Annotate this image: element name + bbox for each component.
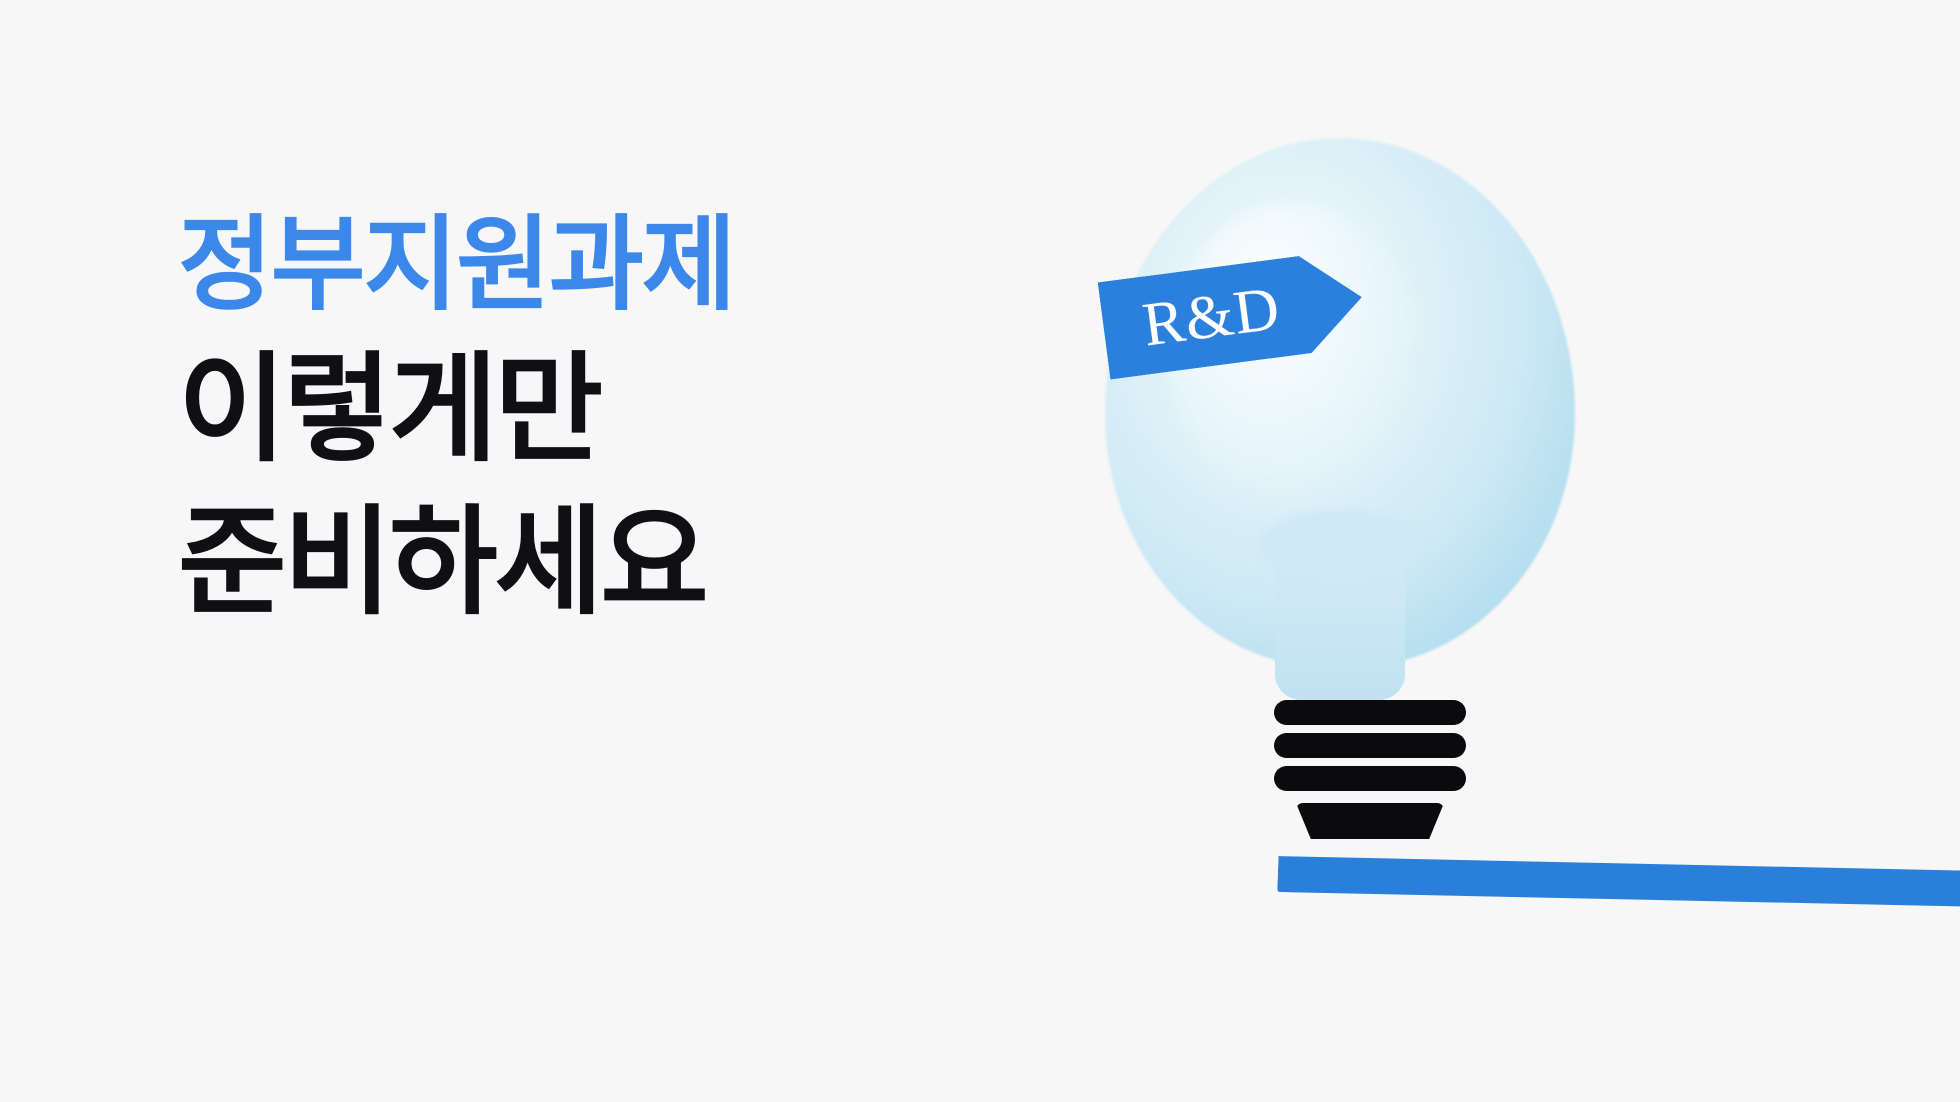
headline-line-1: 이렇게만 [178, 334, 1078, 487]
lightbulb-illustration [1060, 120, 1620, 920]
lightbulb-thread-icon [1274, 766, 1466, 791]
headline-line-2: 준비하세요 [178, 487, 1078, 640]
promo-banner-canvas: 정부지원과제 이렇게만 준비하세요 R&D [0, 0, 1960, 1102]
headline-eyebrow: 정부지원과제 [178, 196, 1078, 334]
lightbulb-neck-icon [1275, 550, 1405, 700]
headline-block: 정부지원과제 이렇게만 준비하세요 [178, 196, 1078, 641]
lightbulb-thread-icon [1274, 700, 1466, 725]
lightbulb-tip-icon [1296, 803, 1444, 839]
lightbulb-thread-icon [1274, 733, 1466, 758]
